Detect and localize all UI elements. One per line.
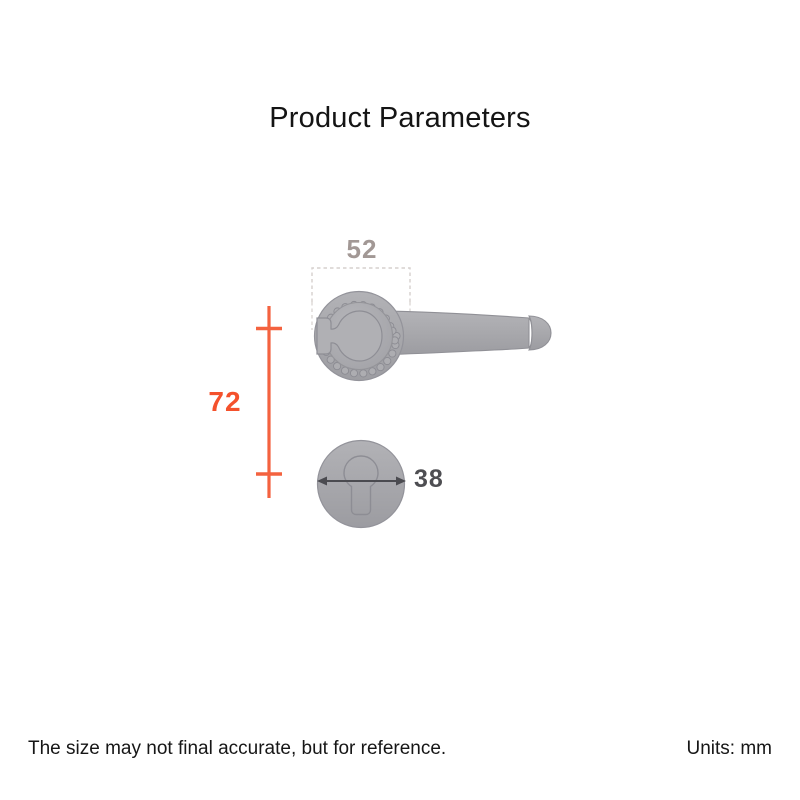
lever-handle-assembly: [315, 292, 552, 381]
dimension-label-diameter-38: 38: [414, 467, 444, 492]
product-dimension-drawing: [0, 0, 800, 800]
dimension-label-height-72: 72: [196, 388, 254, 416]
footer-units-text: Units: mm: [687, 736, 773, 762]
spindle-cam-shape: [317, 311, 382, 361]
dimension-label-width-52: 52: [332, 236, 392, 262]
keyhole-escutcheon-plate: [318, 441, 405, 528]
dimension-line-vertical-icon: [256, 306, 282, 498]
footer-disclaimer-text: The size may not final accurate, but for…: [28, 736, 446, 762]
handle-rosette-plate: [315, 292, 404, 381]
